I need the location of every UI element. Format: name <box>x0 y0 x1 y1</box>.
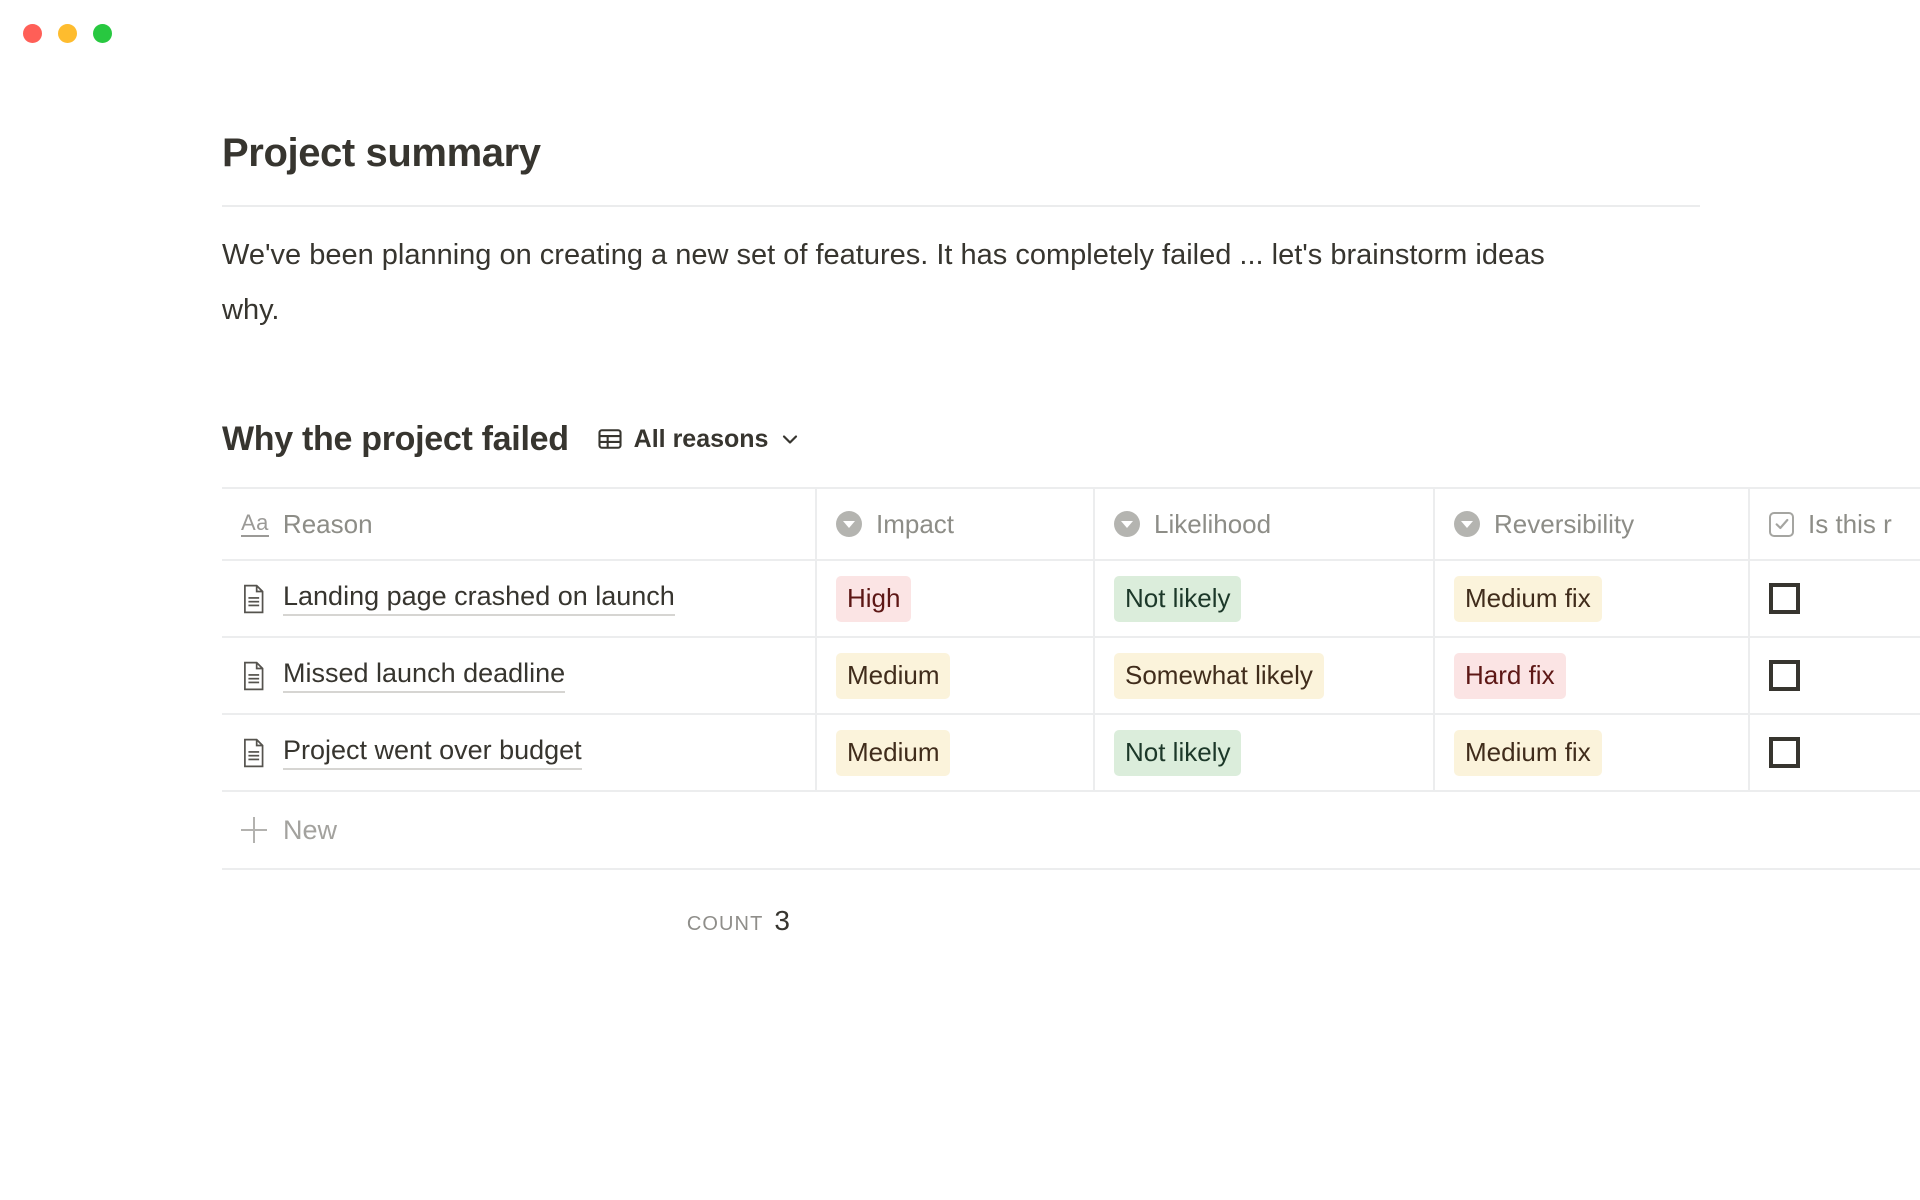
tag-likelihood: Somewhat likely <box>1114 653 1324 699</box>
page-document-icon <box>241 661 267 691</box>
table-header-row: Aa Reason Impact Likelihood Reversibilit… <box>222 489 1920 561</box>
cell-impact[interactable]: Medium <box>817 638 1095 713</box>
cell-impact[interactable]: Medium <box>817 715 1095 790</box>
column-header-label: Likelihood <box>1154 509 1271 540</box>
cell-reversibility[interactable]: Medium fix <box>1435 715 1750 790</box>
tag-reversibility: Medium fix <box>1454 730 1602 776</box>
select-icon <box>1454 511 1480 537</box>
column-header-is-this-reversible[interactable]: Is this r <box>1750 489 1920 559</box>
row-checkbox[interactable] <box>1769 583 1800 614</box>
column-header-label: Reversibility <box>1494 509 1634 540</box>
column-header-label: Is this r <box>1808 509 1892 540</box>
tag-impact: Medium <box>836 653 950 699</box>
new-row-label: New <box>283 815 337 846</box>
column-header-impact[interactable]: Impact <box>817 489 1095 559</box>
tag-likelihood: Not likely <box>1114 576 1241 622</box>
tag-impact: High <box>836 576 911 622</box>
row-title[interactable]: Project went over budget <box>283 735 582 770</box>
tag-reversibility: Hard fix <box>1454 653 1566 699</box>
tag-impact: Medium <box>836 730 950 776</box>
checkbox-icon <box>1769 512 1794 537</box>
new-row-button[interactable]: New <box>222 792 1920 870</box>
database-header: Why the project failed All reasons <box>222 414 1920 464</box>
select-icon <box>836 511 862 537</box>
database-title: Why the project failed <box>222 420 569 459</box>
cell-likelihood[interactable]: Not likely <box>1095 715 1435 790</box>
column-header-label: Reason <box>283 509 373 540</box>
column-header-reason[interactable]: Aa Reason <box>222 489 817 559</box>
cell-is-reversible[interactable] <box>1750 638 1920 713</box>
table-row[interactable]: Missed launch deadline Medium Somewhat l… <box>222 638 1920 715</box>
page-document-icon <box>241 584 267 614</box>
traffic-lights <box>23 24 112 43</box>
column-header-reversibility[interactable]: Reversibility <box>1435 489 1750 559</box>
column-header-likelihood[interactable]: Likelihood <box>1095 489 1435 559</box>
cell-likelihood[interactable]: Somewhat likely <box>1095 638 1435 713</box>
table-icon <box>596 425 624 453</box>
close-window-button[interactable] <box>23 24 42 43</box>
cell-is-reversible[interactable] <box>1750 561 1920 636</box>
database-view-label: All reasons <box>634 425 769 454</box>
count-label: Count <box>687 913 764 936</box>
chevron-down-icon <box>778 427 802 451</box>
row-title[interactable]: Missed launch deadline <box>283 658 565 693</box>
row-checkbox[interactable] <box>1769 660 1800 691</box>
column-header-label: Impact <box>876 509 954 540</box>
page-paragraph: We've been planning on creating a new se… <box>222 207 1552 338</box>
table-row[interactable]: Landing page crashed on launch High Not … <box>222 561 1920 638</box>
cell-reversibility[interactable]: Hard fix <box>1435 638 1750 713</box>
count-value: 3 <box>774 905 790 937</box>
page-content: Project summary We've been planning on c… <box>222 62 1920 937</box>
cell-reason[interactable]: Landing page crashed on launch <box>222 561 817 636</box>
maximize-window-button[interactable] <box>93 24 112 43</box>
table-row[interactable]: Project went over budget Medium Not like… <box>222 715 1920 792</box>
cell-reason[interactable]: Missed launch deadline <box>222 638 817 713</box>
title-text-icon: Aa <box>241 512 269 537</box>
tag-reversibility: Medium fix <box>1454 576 1602 622</box>
page-document-icon <box>241 738 267 768</box>
window-titlebar <box>0 0 1920 62</box>
table-footer-count[interactable]: Count 3 <box>222 870 817 937</box>
cell-impact[interactable]: High <box>817 561 1095 636</box>
row-checkbox[interactable] <box>1769 737 1800 768</box>
cell-reversibility[interactable]: Medium fix <box>1435 561 1750 636</box>
cell-reason[interactable]: Project went over budget <box>222 715 817 790</box>
select-icon <box>1114 511 1140 537</box>
plus-icon <box>241 817 267 843</box>
row-title[interactable]: Landing page crashed on launch <box>283 581 675 616</box>
cell-likelihood[interactable]: Not likely <box>1095 561 1435 636</box>
tag-likelihood: Not likely <box>1114 730 1241 776</box>
page-title: Project summary <box>222 62 1920 177</box>
cell-is-reversible[interactable] <box>1750 715 1920 790</box>
database-table: Aa Reason Impact Likelihood Reversibilit… <box>222 487 1920 870</box>
minimize-window-button[interactable] <box>58 24 77 43</box>
database-view-selector[interactable]: All reasons <box>590 422 809 457</box>
database-section: Why the project failed All reasons <box>222 338 1920 937</box>
